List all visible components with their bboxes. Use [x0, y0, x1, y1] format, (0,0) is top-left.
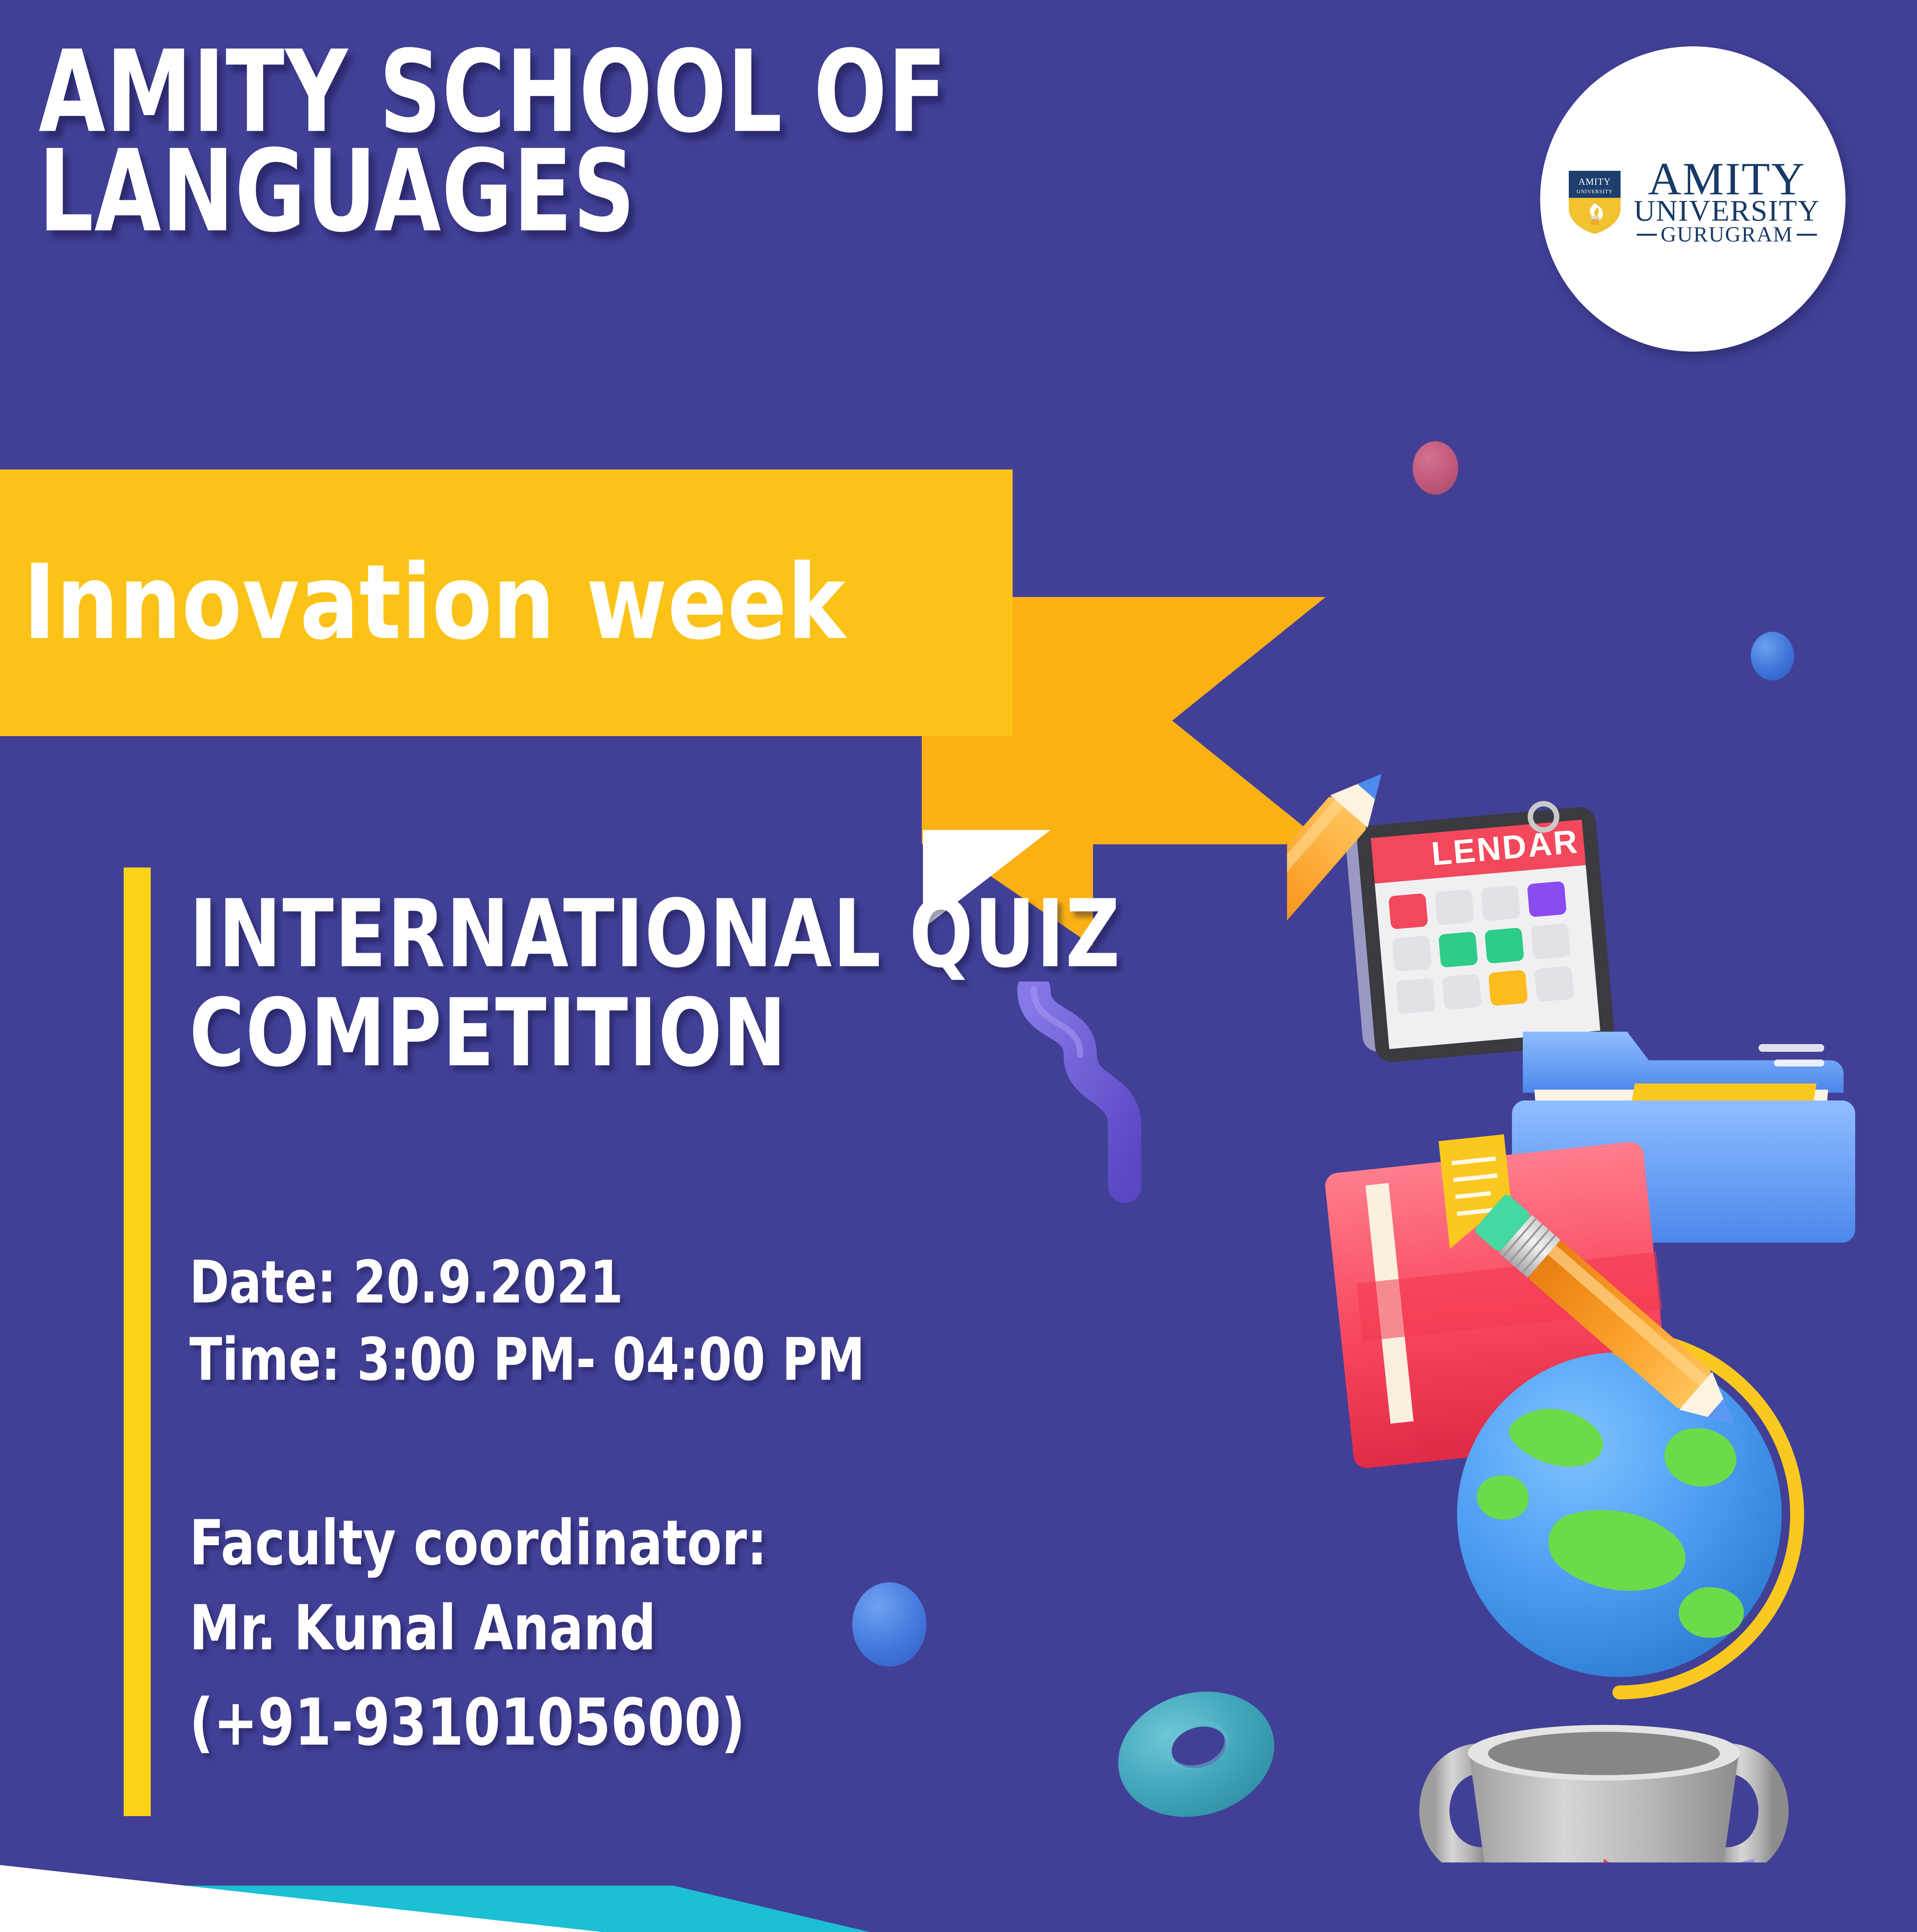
amity-university-logo: AMITY UNIVERSITY AMITY UNIVERSITY GURUGR…	[1540, 46, 1845, 352]
page-title: AMITY SCHOOL OF LANGUAGES	[39, 43, 1159, 241]
event-date: Date: 20.9.2021	[189, 1248, 623, 1316]
event-title: INTERNATIONAL QUIZ COMPETITION	[189, 885, 1368, 1083]
blue-sphere-decoration-large	[852, 1582, 926, 1667]
faculty-coordinator-label: Faculty coordinator:	[189, 1507, 767, 1579]
red-book-icon	[1322, 1120, 1675, 1469]
poster-canvas: AMITY SCHOOL OF LANGUAGES AMITY UNIVERSI…	[0, 0, 1917, 1932]
vertical-accent-bar	[124, 867, 151, 1816]
event-title-line-2: COMPETITION	[189, 984, 1368, 1083]
faculty-coordinator-name: Mr. Kunal Anand	[189, 1592, 656, 1664]
faculty-coordinator-phone[interactable]: (+91-9310105600)	[189, 1685, 745, 1760]
calendar-header-label: LENDAR	[1430, 823, 1580, 872]
school-title-line-2: LANGUAGES	[39, 142, 1159, 242]
blue-sphere-decoration-small	[1751, 632, 1794, 680]
event-time: Time: 3:00 PM- 04:00 PM	[189, 1325, 865, 1394]
logo-rule-right	[1797, 234, 1817, 236]
svg-text:AMITY: AMITY	[1578, 177, 1611, 187]
logo-wordmark-sub: UNIVERSITY	[1634, 197, 1820, 224]
calendar-icon: LENDAR	[1344, 799, 1616, 1064]
folder-icon	[1512, 1032, 1855, 1243]
logo-wordmark-campus: GURUGRAM	[1661, 225, 1793, 244]
teal-torus-decoration	[1101, 1671, 1292, 1838]
svg-text:UNIVERSITY: UNIVERSITY	[1577, 189, 1613, 195]
event-title-line-1: INTERNATIONAL QUIZ	[189, 885, 1368, 984]
ribbon-label: Innovation week	[23, 496, 997, 709]
logo-rule-left	[1637, 234, 1657, 236]
pink-sphere-decoration	[1413, 441, 1458, 495]
education-illustration-cluster: LENDAR	[1287, 746, 1917, 1932]
shield-icon: AMITY UNIVERSITY	[1566, 168, 1624, 235]
pencil-icon	[1473, 1193, 1750, 1443]
logo-wordmark-main: AMITY	[1648, 158, 1806, 200]
globe-icon	[1457, 1329, 1797, 1692]
purple-squiggle-decoration	[997, 981, 1163, 1213]
